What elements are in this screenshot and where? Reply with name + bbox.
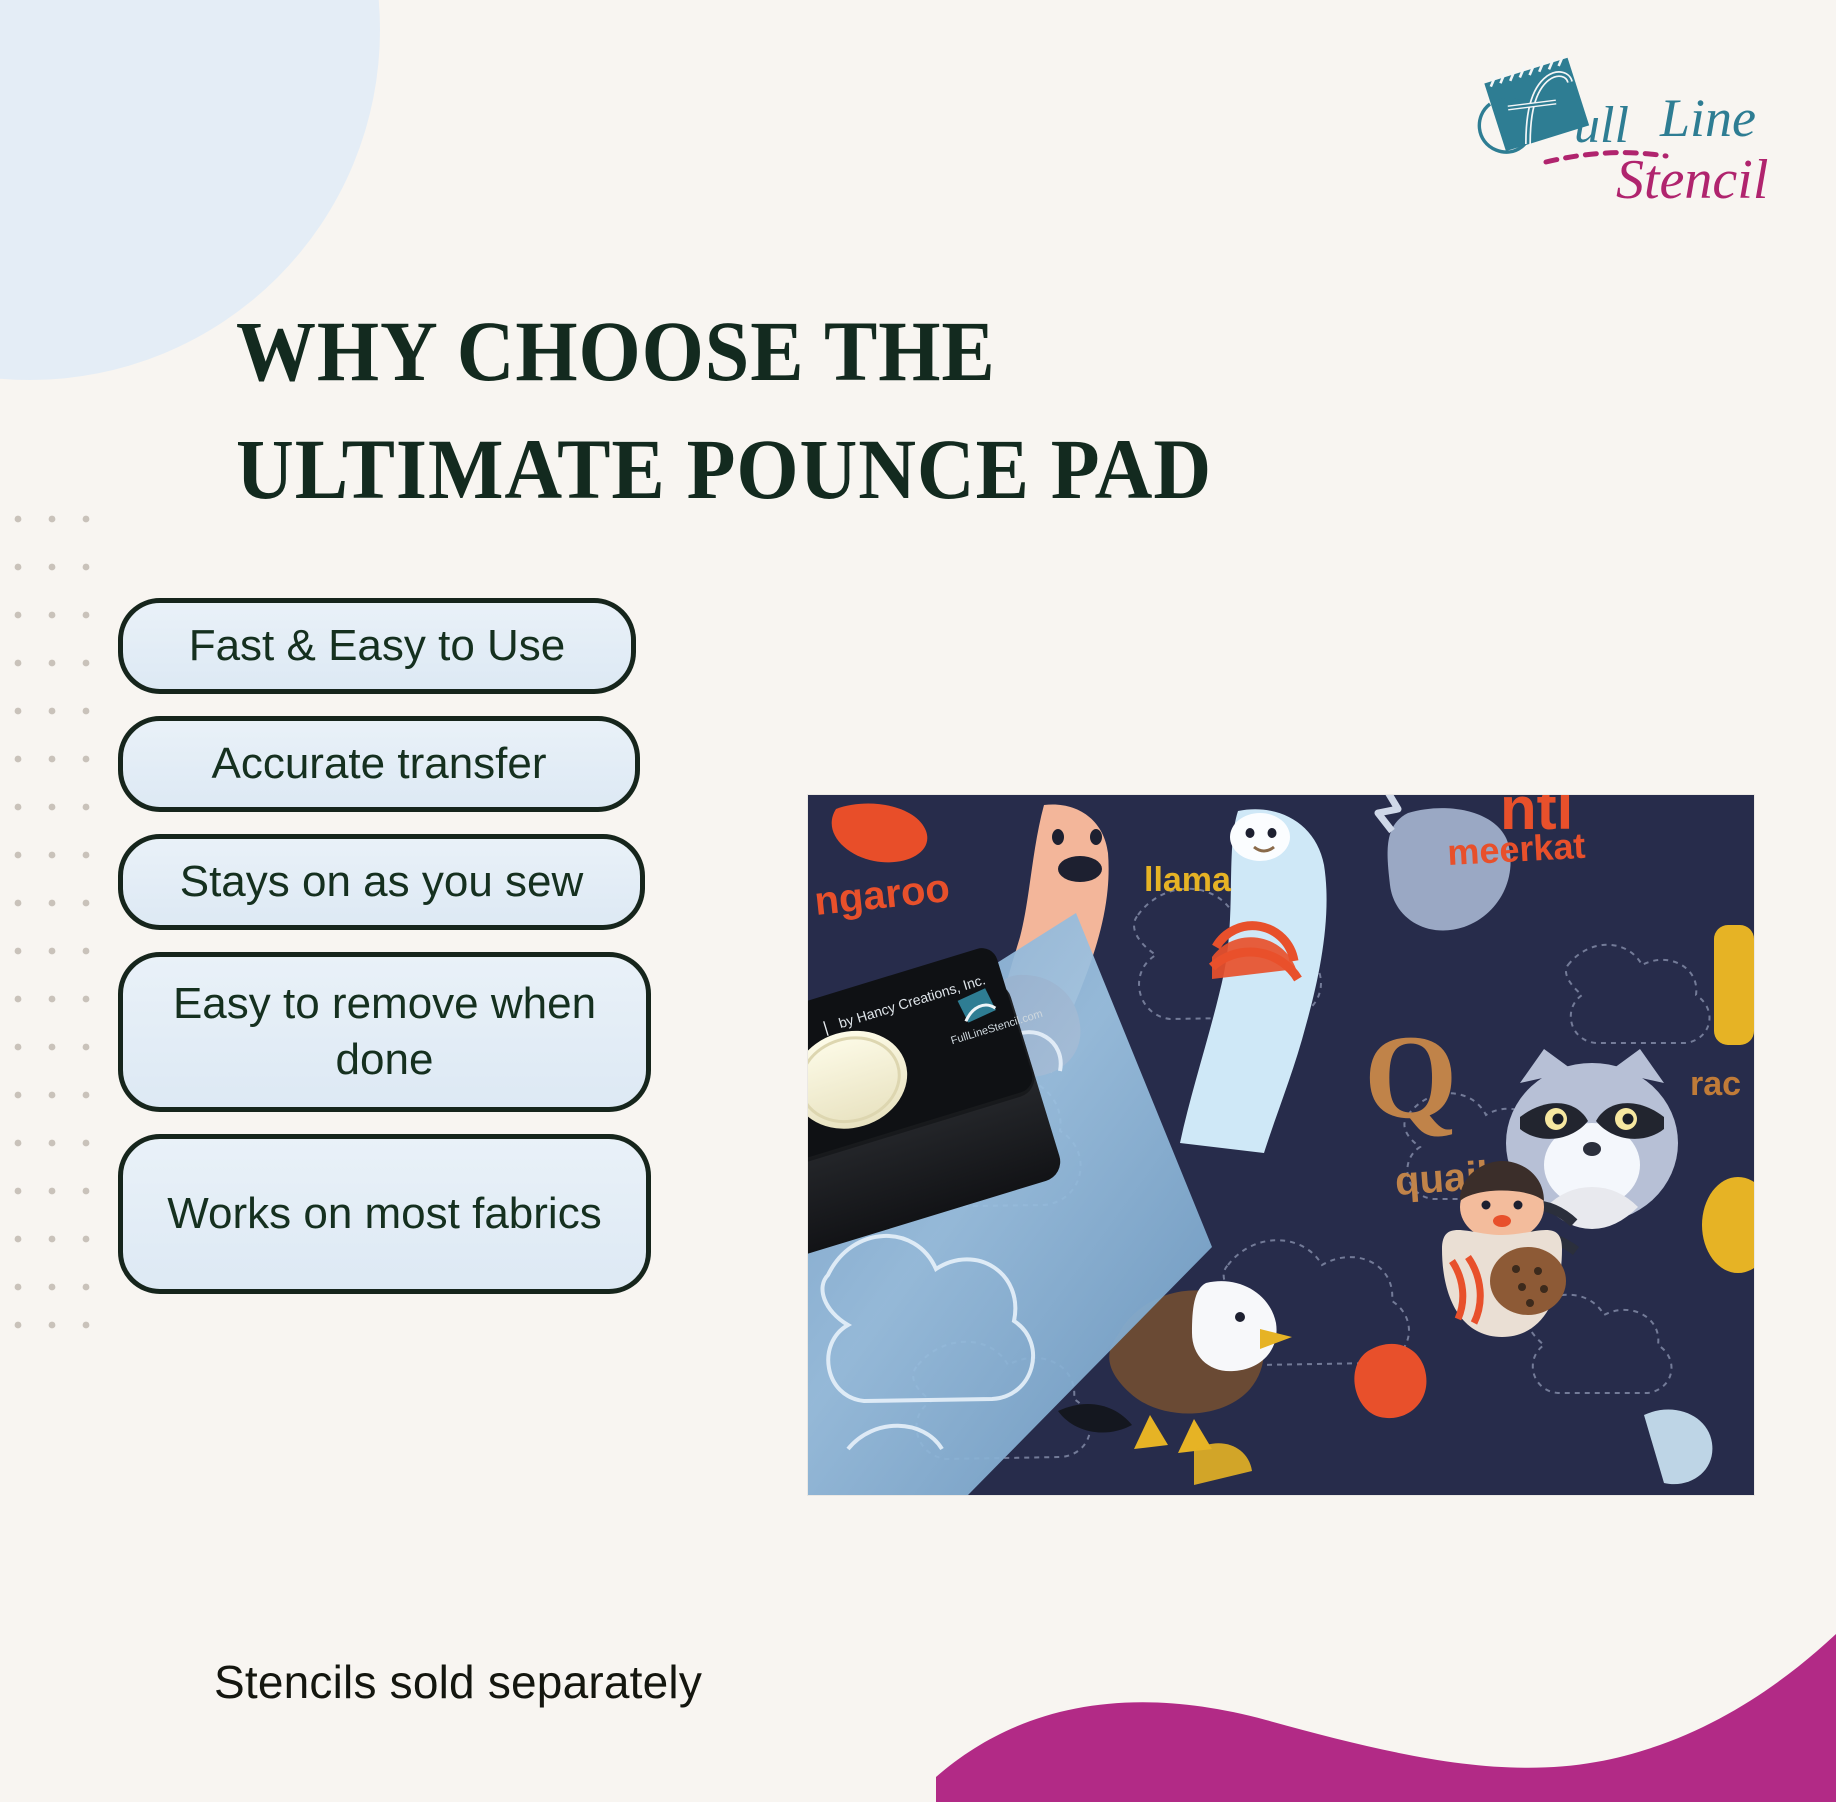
feature-pill-fast-easy[interactable]: Fast & Easy to Use xyxy=(118,598,636,694)
headline-line-1: WHY CHOOSE THE xyxy=(236,292,1445,411)
feature-pill-works-fabrics[interactable]: Works on most fabrics xyxy=(118,1134,651,1294)
page-title: WHY CHOOSE THE ULTIMATE POUNCE PAD xyxy=(236,292,1445,529)
feature-pill-accurate-transfer[interactable]: Accurate transfer xyxy=(118,716,640,812)
full-line-stencil-logo-icon: ull Line Stencil xyxy=(1470,46,1800,206)
brand-logo: ull Line Stencil xyxy=(1470,46,1800,206)
feature-list: Fast & Easy to Use Accurate transfer Sta… xyxy=(118,598,758,1294)
product-photo: ngaroo llama llama L L L xyxy=(808,795,1754,1495)
svg-text:llama: llama xyxy=(1144,861,1232,899)
feature-label: Accurate transfer xyxy=(211,736,546,792)
feature-label: Stays on as you sew xyxy=(180,854,584,910)
feature-pill-stays-on[interactable]: Stays on as you sew xyxy=(118,834,645,930)
feature-label: Works on most fabrics xyxy=(167,1186,601,1242)
magenta-wave-decoration xyxy=(936,1612,1836,1802)
promo-canvas: ull Line Stencil WHY CHOOSE THE ULTIMATE… xyxy=(0,0,1836,1802)
svg-text:Q: Q xyxy=(1364,1010,1457,1143)
dotted-pattern-decoration xyxy=(6,505,102,1335)
svg-text:Line: Line xyxy=(1659,88,1756,148)
feature-pill-easy-remove[interactable]: Easy to remove when done xyxy=(118,952,651,1112)
product-photo-illustration: ngaroo llama llama L L L xyxy=(808,795,1754,1495)
svg-text:ull: ull xyxy=(1574,97,1629,154)
svg-text:Stencil: Stencil xyxy=(1616,149,1768,206)
stencils-sold-separately-note: Stencils sold separately xyxy=(214,1655,702,1709)
svg-text:rac: rac xyxy=(1690,1065,1741,1103)
headline-line-2: ULTIMATE POUNCE PAD xyxy=(236,410,1445,529)
feature-label: Easy to remove when done xyxy=(143,976,626,1089)
feature-label: Fast & Easy to Use xyxy=(189,618,566,674)
svg-text:ntl: ntl xyxy=(1500,795,1573,842)
